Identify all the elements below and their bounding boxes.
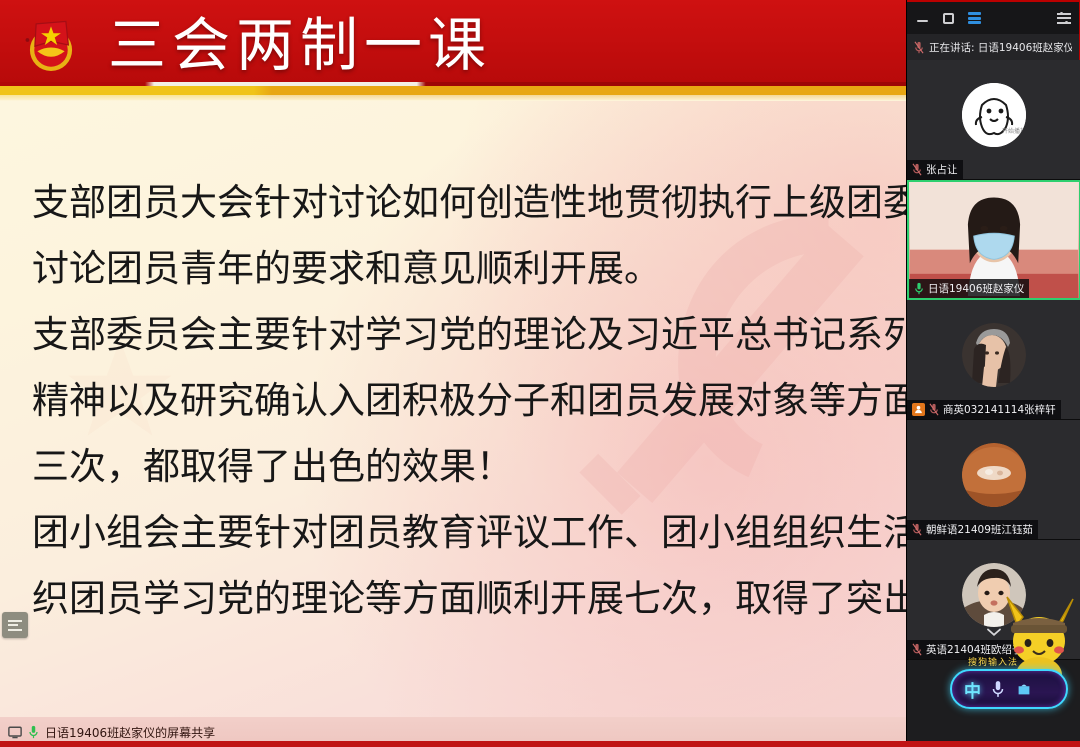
active-speaker-banner: 正在讲话: 日语19406班赵家仪 (907, 34, 1080, 60)
slide-line: 织团员学习党的理论等方面顺利开展七次，取得了突出 (32, 566, 906, 632)
participant-name-chip: 张占让 (907, 160, 963, 179)
microphone-muted-icon (914, 41, 924, 54)
participant-tile[interactable]: 开始播放 张占让 (907, 60, 1080, 180)
settings-sliders-icon[interactable] (1056, 11, 1071, 26)
host-person-icon (912, 403, 925, 416)
active-speaker-text: 正在讲话: 日语19406班赵家仪 (929, 40, 1072, 55)
slide-line: 支部团员大会针对讨论如何创造性地贯彻执行上级团委 (32, 170, 906, 236)
ime-toolbox-icon[interactable] (1015, 680, 1033, 698)
participant-tile-list[interactable]: 开始播放 张占让 (907, 60, 1080, 660)
svg-text:开始播放: 开始播放 (1002, 127, 1026, 135)
microphone-muted-icon (912, 643, 922, 656)
ime-brand-label: 搜狗输入法 (968, 655, 1018, 668)
screen-share-icon (8, 726, 22, 739)
shared-screen-slide: 三会两制一课 支部团员大会针对讨论如何创造性地贯彻执行上级团委 讨论团员青年的要… (0, 0, 906, 747)
slide-line: 讨论团员青年的要求和意见顺利开展。 (32, 236, 906, 302)
voice-input-icon[interactable] (991, 680, 1005, 698)
slide-line: 精神以及研究确认入团积极分子和团员发展对象等方面 (32, 368, 906, 434)
participant-tile[interactable]: 朝鲜语21409班江钰茹 (907, 420, 1080, 540)
participant-name: 朝鲜语21409班江钰茹 (926, 522, 1033, 537)
minimize-icon[interactable] (915, 11, 930, 26)
bottom-red-stripe (0, 741, 1080, 747)
youth-league-emblem-icon (20, 14, 82, 76)
microphone-on-icon (28, 725, 39, 739)
participant-tile[interactable]: 商英032141114张梓轩 (907, 300, 1080, 420)
participant-tile[interactable]: 英语21404班欧绍于 (907, 540, 1080, 660)
microphone-on-icon (914, 282, 924, 295)
slide-line: 三次，都取得了出色的效果！ (32, 434, 906, 500)
participant-tile-active[interactable]: 日语19406班赵家仪 (907, 180, 1080, 300)
photo-avatar (962, 323, 1026, 387)
chevron-down-icon[interactable] (986, 628, 1002, 637)
microphone-muted-icon (929, 403, 939, 416)
app-root: 三会两制一课 支部团员大会针对讨论如何创造性地贯彻执行上级团委 讨论团员青年的要… (0, 0, 1080, 747)
share-menu-icon[interactable] (2, 612, 28, 638)
photo-avatar (962, 563, 1026, 627)
slide-gold-divider (0, 86, 906, 100)
gallery-view-icon[interactable] (967, 11, 982, 26)
cartoon-ghost-avatar: 开始播放 (962, 83, 1026, 147)
microphone-muted-icon (912, 523, 922, 536)
participant-name-chip: 商英032141114张梓轩 (907, 400, 1061, 419)
slide-line: 支部委员会主要针对学习党的理论及习近平总书记系列 (32, 302, 906, 368)
participant-name: 张占让 (926, 162, 958, 177)
participant-name-chip: 朝鲜语21409班江钰茹 (907, 520, 1038, 539)
screen-share-status-text: 日语19406班赵家仪的屏幕共享 (45, 724, 215, 741)
participant-name: 日语19406班赵家仪 (928, 281, 1024, 296)
maximize-icon[interactable] (941, 11, 956, 26)
participant-name-chip: 日语19406班赵家仪 (909, 279, 1029, 298)
ime-mode-label[interactable]: 中 (964, 677, 981, 702)
slide-title: 三会两制一课 (108, 6, 492, 84)
panel-titlebar (907, 0, 1080, 34)
photo-avatar (962, 443, 1026, 507)
microphone-muted-icon (912, 163, 922, 176)
participant-name: 商英032141114张梓轩 (943, 402, 1056, 417)
slide-body-text: 支部团员大会针对讨论如何创造性地贯彻执行上级团委 讨论团员青年的要求和意见顺利开… (32, 170, 906, 632)
slide-line: 团小组会主要针对团员教育评议工作、团小组组织生活 (32, 500, 906, 566)
ime-toolbar[interactable]: 中 (950, 669, 1068, 709)
participants-panel: 正在讲话: 日语19406班赵家仪 开始播放 (906, 0, 1080, 747)
